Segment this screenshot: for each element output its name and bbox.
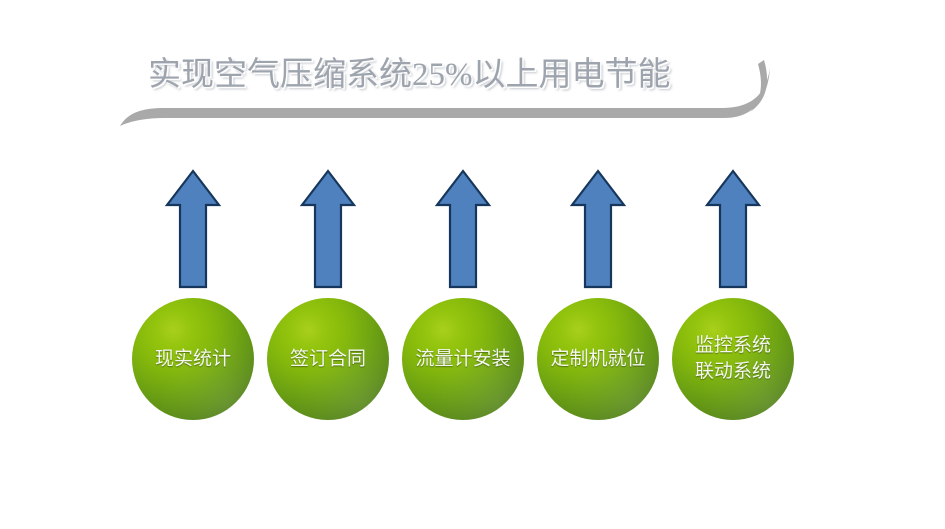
process-step-5[interactable]: 监控系统 联动系统: [671, 168, 795, 430]
up-arrow-icon: [434, 168, 492, 290]
process-flow: 现实统计 签订合同 流量计安装: [128, 168, 818, 430]
process-label-1: 现实统计: [124, 347, 262, 372]
process-sphere-3[interactable]: 流量计安装: [402, 298, 524, 420]
page-title: 实现空气压缩系统25%以上用电节能: [148, 46, 748, 104]
up-arrow-icon: [164, 168, 222, 290]
process-step-1[interactable]: 现实统计: [131, 168, 255, 430]
slide-canvas: 实现空气压缩系统25%以上用电节能 现实统计 签订合同: [0, 0, 945, 529]
process-label-2: 签订合同: [259, 347, 397, 372]
process-sphere-4[interactable]: 定制机就位: [537, 298, 659, 420]
up-arrow-icon: [299, 168, 357, 290]
up-arrow-icon: [569, 168, 627, 290]
process-sphere-2[interactable]: 签订合同: [267, 298, 389, 420]
process-label-5: 监控系统 联动系统: [664, 333, 802, 385]
process-sphere-1[interactable]: 现实统计: [132, 298, 254, 420]
title-banner: 实现空气压缩系统25%以上用电节能: [118, 38, 786, 130]
up-arrow-icon: [704, 168, 762, 290]
process-label-4: 定制机就位: [529, 347, 667, 372]
process-sphere-5[interactable]: 监控系统 联动系统: [672, 298, 794, 420]
process-step-2[interactable]: 签订合同: [266, 168, 390, 430]
process-label-3: 流量计安装: [394, 347, 532, 372]
process-step-4[interactable]: 定制机就位: [536, 168, 660, 430]
process-step-3[interactable]: 流量计安装: [401, 168, 525, 430]
